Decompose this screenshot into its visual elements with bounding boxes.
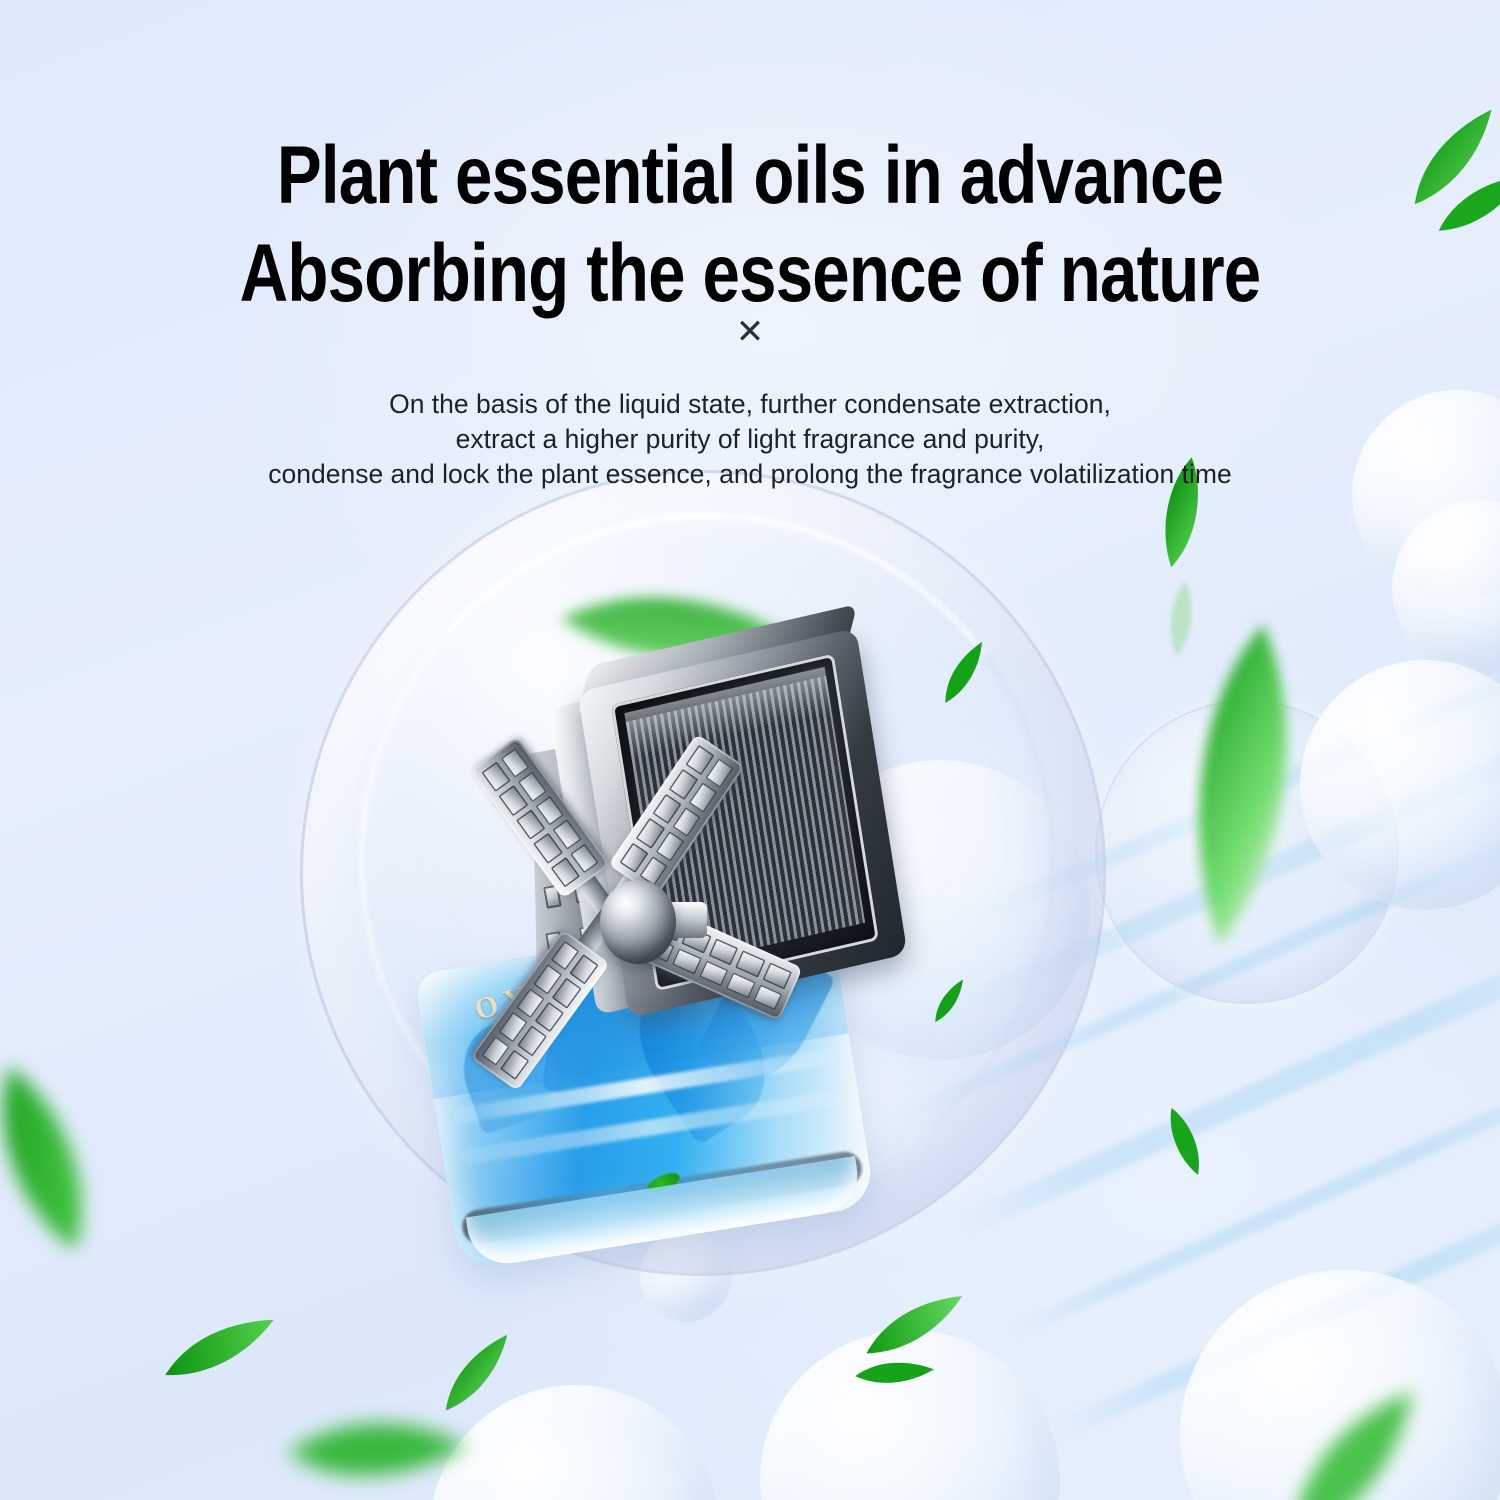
leaf-decor bbox=[1250, 1381, 1460, 1500]
leaf-decor bbox=[1427, 169, 1500, 244]
bubble-decor bbox=[1392, 500, 1500, 676]
subtitle-paragraph: On the basis of the liquid state, furthe… bbox=[0, 387, 1500, 492]
x-mark-icon: ✕ bbox=[0, 315, 1500, 349]
leaf-decor bbox=[1155, 578, 1205, 661]
leaf-decor bbox=[1386, 99, 1500, 222]
leaf-decor bbox=[156, 1312, 283, 1390]
leaf-decor bbox=[276, 1372, 475, 1500]
page-title: Plant essential oils in advance Absorbin… bbox=[135, 127, 1365, 323]
poster-canvas: OYX bbox=[0, 0, 1500, 1500]
bubble-decor bbox=[1095, 700, 1399, 1004]
bubble-decor bbox=[1180, 1270, 1500, 1500]
leaf-decor bbox=[1088, 602, 1382, 969]
bubble-decor bbox=[430, 1385, 720, 1500]
leaf-decor bbox=[421, 1324, 534, 1426]
leaf-decor bbox=[855, 1289, 974, 1367]
leaf-decor bbox=[1149, 1099, 1219, 1185]
leaf-decor bbox=[0, 1042, 142, 1279]
bubble-decor bbox=[760, 1330, 1060, 1500]
bubble-decor bbox=[1300, 660, 1500, 910]
product-image: OYX bbox=[405, 540, 1005, 1260]
leaf-decor bbox=[851, 1346, 936, 1404]
windmill-hub bbox=[600, 880, 676, 964]
